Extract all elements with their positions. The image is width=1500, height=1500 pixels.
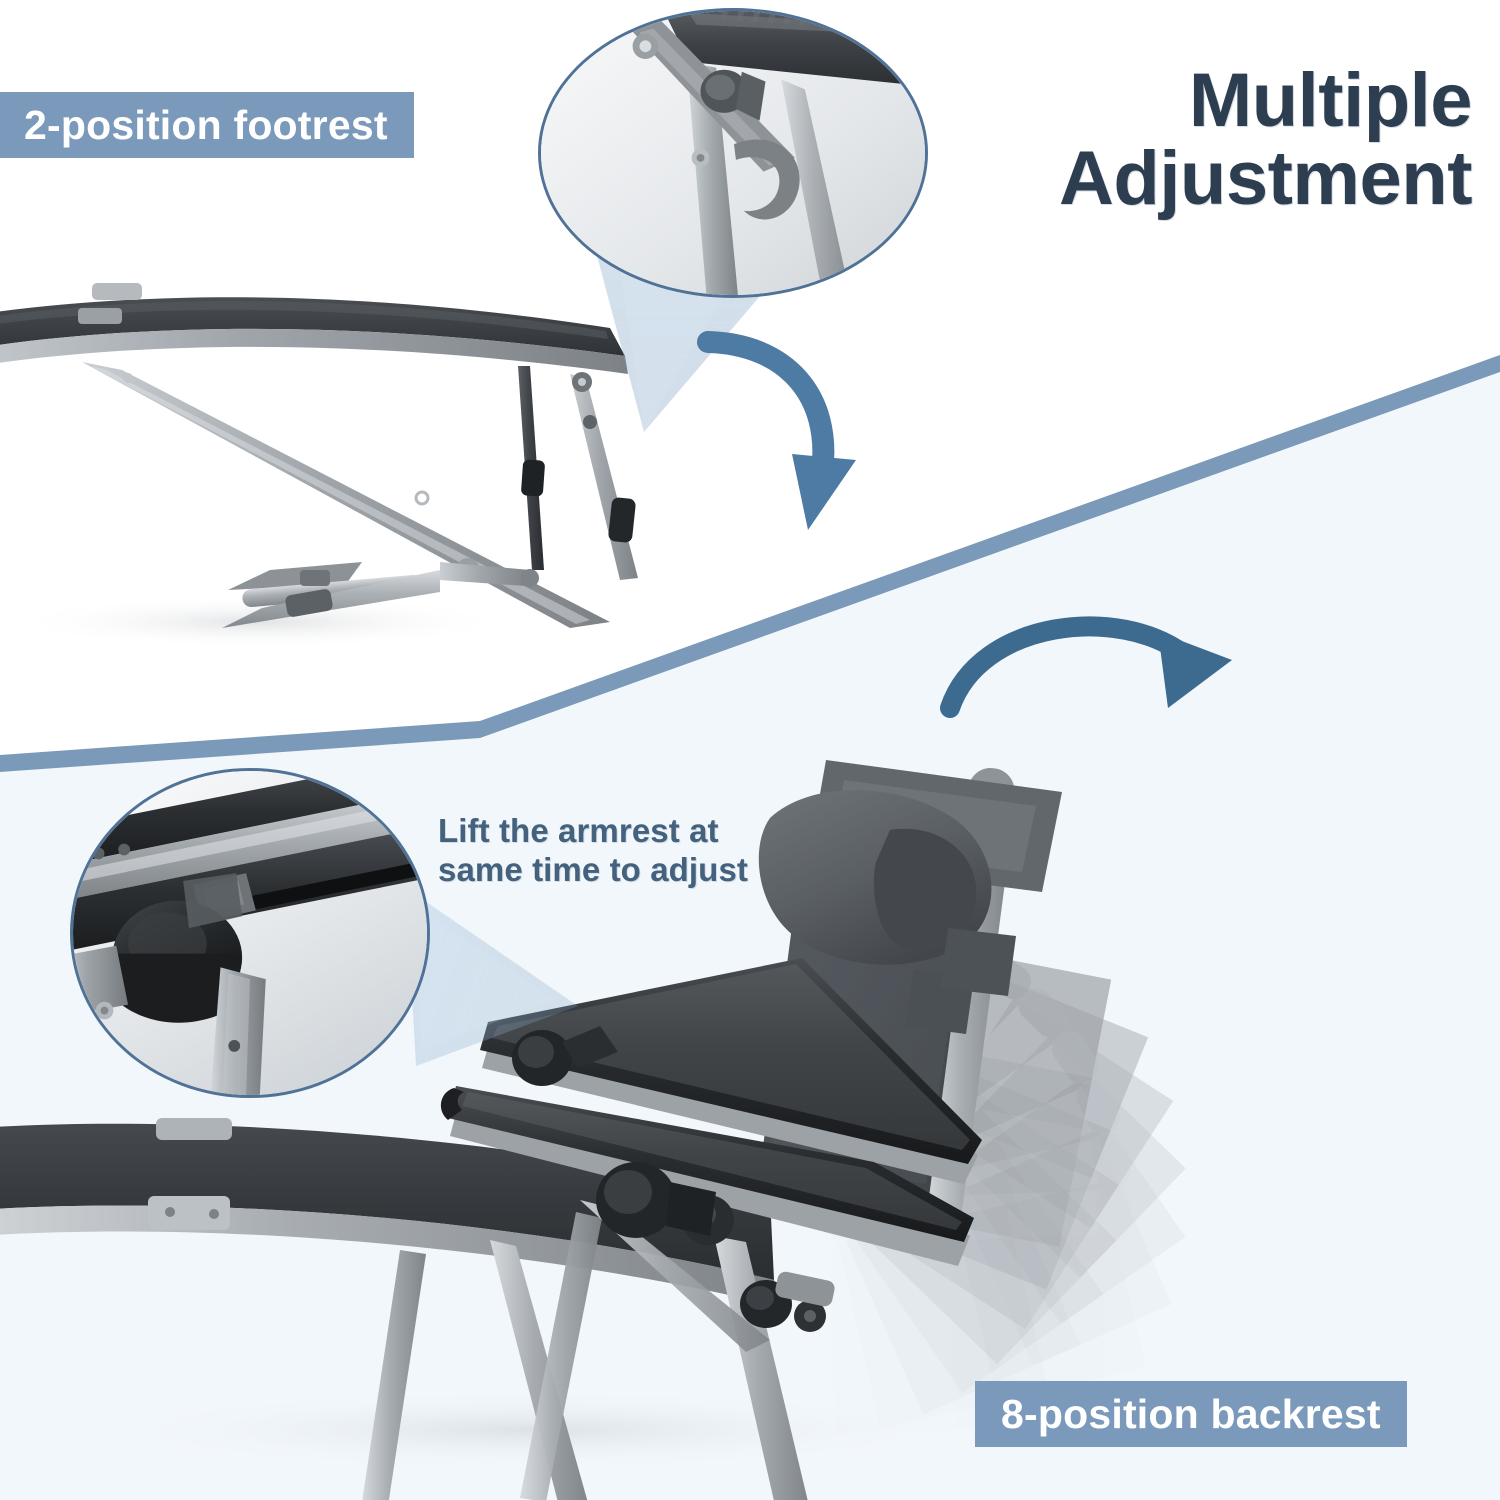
seat-top-bracket [156, 1118, 232, 1140]
page-title-line-1: Multiple [1059, 62, 1472, 140]
footrest-rotation-arrow [700, 330, 890, 560]
leg-grip-sleeve [521, 459, 545, 496]
support-mid-ring [416, 492, 428, 504]
footrest-clamp [300, 570, 330, 586]
seat-bracket-rivet-2 [209, 1209, 219, 1219]
support-pivot-screw [123, 373, 133, 383]
fabric-top-clip [92, 283, 142, 300]
fabric-hinge-bracket [78, 308, 122, 324]
footrest-link-joint [521, 569, 539, 587]
mag-arm-eye-hole [639, 40, 651, 52]
pillow-strap [940, 928, 1016, 996]
seat-bracket-rivet-1 [165, 1207, 175, 1217]
mag-rail-rivet-2 [118, 844, 130, 856]
armrest-note-line-2: same time to adjust [438, 851, 748, 890]
footrest-latch-magnifier [538, 8, 928, 298]
infographic-canvas: 2-position footrest Multiple Adjustment … [0, 0, 1500, 1500]
backrest-rotation-arrow [940, 608, 1270, 758]
right-strut-sleeve [608, 497, 636, 543]
badge-backrest: 8-position backrest [975, 1381, 1407, 1447]
badge-footrest: 2-position footrest [0, 92, 414, 158]
armrest-instruction-note: Lift the armrest at same time to adjust [438, 812, 748, 889]
mag-pivot-knuckle-hi [705, 75, 735, 100]
mag-right-tube-pin [228, 1040, 240, 1052]
armrest-hinge-magnifier [70, 768, 430, 1098]
badge-footrest-label: 2-position footrest [24, 102, 388, 149]
armrest-note-line-1: Lift the armrest at [438, 812, 748, 851]
page-title-line-2: Adjustment [1059, 140, 1472, 218]
badge-backrest-label: 8-position backrest [1001, 1391, 1381, 1438]
mag-tube-screw-slot [697, 154, 705, 162]
page-title: Multiple Adjustment [1059, 62, 1472, 219]
mag-left-tube-screw-slot [101, 1007, 109, 1015]
lower-armrest-knob-hi [604, 1170, 652, 1214]
mag-rail-rivet-1 [93, 848, 105, 860]
